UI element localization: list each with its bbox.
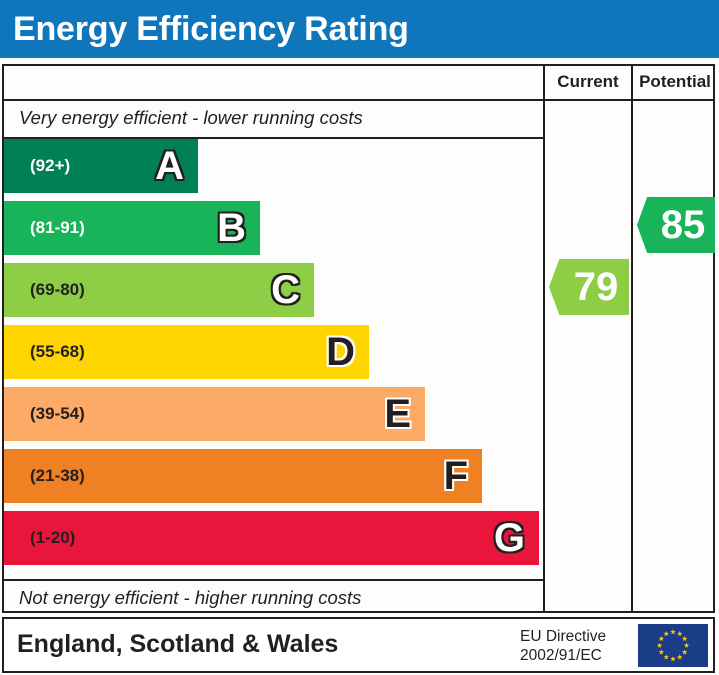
column-divider-current	[543, 66, 545, 611]
rating-band-b: (81-91)B	[4, 201, 260, 255]
energy-efficiency-certificate: Energy Efficiency Rating Current Potenti…	[0, 0, 719, 675]
band-range-g: (1-20)	[30, 528, 75, 548]
band-letter-f: F	[444, 456, 468, 496]
header-rule-right	[543, 99, 715, 101]
rating-arrow-current: 79	[549, 259, 629, 315]
band-letter-a: A	[155, 146, 184, 186]
header-rule-left	[4, 99, 543, 101]
directive-line-2: 2002/91/EC	[520, 646, 606, 665]
rating-band-c: (69-80)C	[4, 263, 314, 317]
footer-directive-label: EU Directive 2002/91/EC	[520, 627, 606, 665]
band-range-a: (92+)	[30, 156, 70, 176]
band-letter-e: E	[384, 394, 411, 434]
title-bar: Energy Efficiency Rating	[0, 0, 719, 58]
band-range-e: (39-54)	[30, 404, 85, 424]
rating-value-potential: 85	[647, 205, 706, 245]
band-letter-d: D	[326, 332, 355, 372]
band-range-c: (69-80)	[30, 280, 85, 300]
caption-inefficient: Not energy efficient - higher running co…	[19, 587, 361, 609]
rating-band-d: (55-68)D	[4, 325, 369, 379]
footer-region-label: England, Scotland & Wales	[17, 630, 338, 659]
caption-rule-bottom	[4, 579, 543, 581]
rating-band-f: (21-38)F	[4, 449, 482, 503]
rating-chart: Current Potential Very energy efficient …	[2, 64, 715, 613]
rating-bands: (92+)A(81-91)B(69-80)C(55-68)D(39-54)E(2…	[4, 139, 543, 579]
footer-bar: England, Scotland & Wales EU Directive 2…	[2, 617, 715, 673]
band-letter-g: G	[494, 518, 525, 558]
caption-efficient: Very energy efficient - lower running co…	[19, 107, 363, 129]
rating-value-current: 79	[560, 267, 619, 307]
band-range-d: (55-68)	[30, 342, 85, 362]
eu-flag-icon	[638, 624, 708, 667]
column-header-current: Current	[545, 72, 631, 92]
rating-band-a: (92+)A	[4, 139, 198, 193]
band-range-b: (81-91)	[30, 218, 85, 238]
column-divider-potential	[631, 66, 633, 611]
band-letter-c: C	[271, 270, 300, 310]
directive-line-1: EU Directive	[520, 627, 606, 646]
column-header-potential: Potential	[633, 72, 717, 92]
rating-band-e: (39-54)E	[4, 387, 425, 441]
band-letter-b: B	[217, 208, 246, 248]
band-range-f: (21-38)	[30, 466, 85, 486]
rating-arrow-potential: 85	[637, 197, 715, 253]
page-title: Energy Efficiency Rating	[13, 4, 409, 54]
rating-band-g: (1-20)G	[4, 511, 539, 565]
